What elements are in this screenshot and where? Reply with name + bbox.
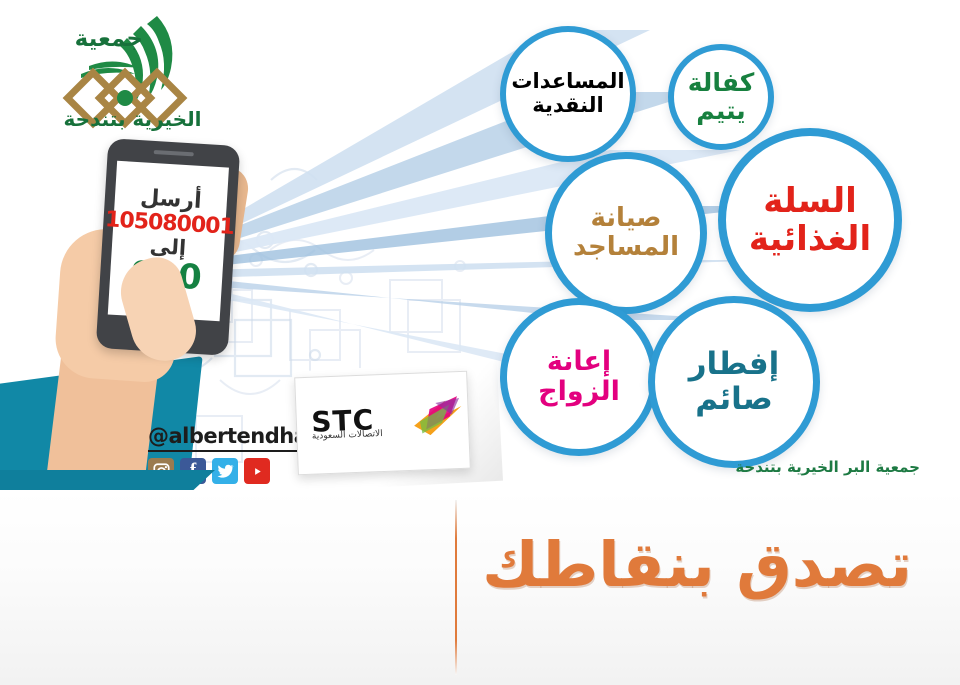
bubble-line-2: النقدية: [532, 94, 604, 118]
bubble-cash-assistance[interactable]: المساعدات النقدية: [500, 26, 636, 162]
phone-speaker: [154, 150, 194, 156]
bubble-line-2: يتيم: [696, 97, 745, 125]
bubble-line-2: صائم: [695, 382, 773, 417]
twitter-icon[interactable]: [212, 458, 238, 484]
bubble-line-1: صيانة: [590, 204, 661, 233]
sponsor-arabic-name: الاتصالات السعودية: [312, 429, 383, 442]
bubble-line-2: الغذائية: [749, 220, 871, 258]
sponsor-card: STC الاتصالات السعودية: [294, 371, 471, 476]
stc-logo-icon: [404, 394, 466, 442]
bubble-line-1: إعانة: [547, 347, 611, 377]
top-panel: جمعية الخيرية بتندحة أرسل 105080001 إلى …: [0, 0, 960, 490]
vertical-divider: [455, 500, 457, 675]
bubble-line-1: إفطار: [689, 347, 780, 382]
association-caption: جمعية البر الخيرية بتندحة: [735, 458, 920, 476]
social-handle[interactable]: @albertendha: [148, 424, 307, 452]
bubble-food-basket[interactable]: السلة الغذائية: [718, 128, 902, 312]
twitter-glyph: [217, 464, 234, 479]
bubble-line-1: المساعدات: [511, 70, 624, 94]
youtube-glyph: [248, 465, 266, 478]
main-slogan: تصدق بنقاطك: [482, 528, 912, 601]
bubble-orphan-sponsorship[interactable]: كفالة يتيم: [668, 44, 774, 150]
bubble-line-2: المساجد: [573, 233, 679, 262]
logo-bottom-text: الخيرية بتندحة: [45, 107, 220, 131]
poster-root: جمعية الخيرية بتندحة أرسل 105080001 إلى …: [0, 0, 960, 685]
bubble-line-1: كفالة: [688, 69, 754, 97]
logo-top-text: جمعية: [23, 26, 143, 52]
youtube-icon[interactable]: [244, 458, 270, 484]
bubble-line-1: السلة: [763, 182, 857, 220]
bubble-line-2: الزواج: [538, 377, 620, 407]
organization-logo: جمعية الخيرية بتندحة: [45, 8, 220, 133]
bubble-mosque-maintenance[interactable]: صيانة المساجد: [545, 152, 707, 314]
bubble-marriage-aid[interactable]: إعانة الزواج: [500, 298, 658, 456]
bubble-iftar-meal[interactable]: إفطار صائم: [648, 296, 820, 468]
